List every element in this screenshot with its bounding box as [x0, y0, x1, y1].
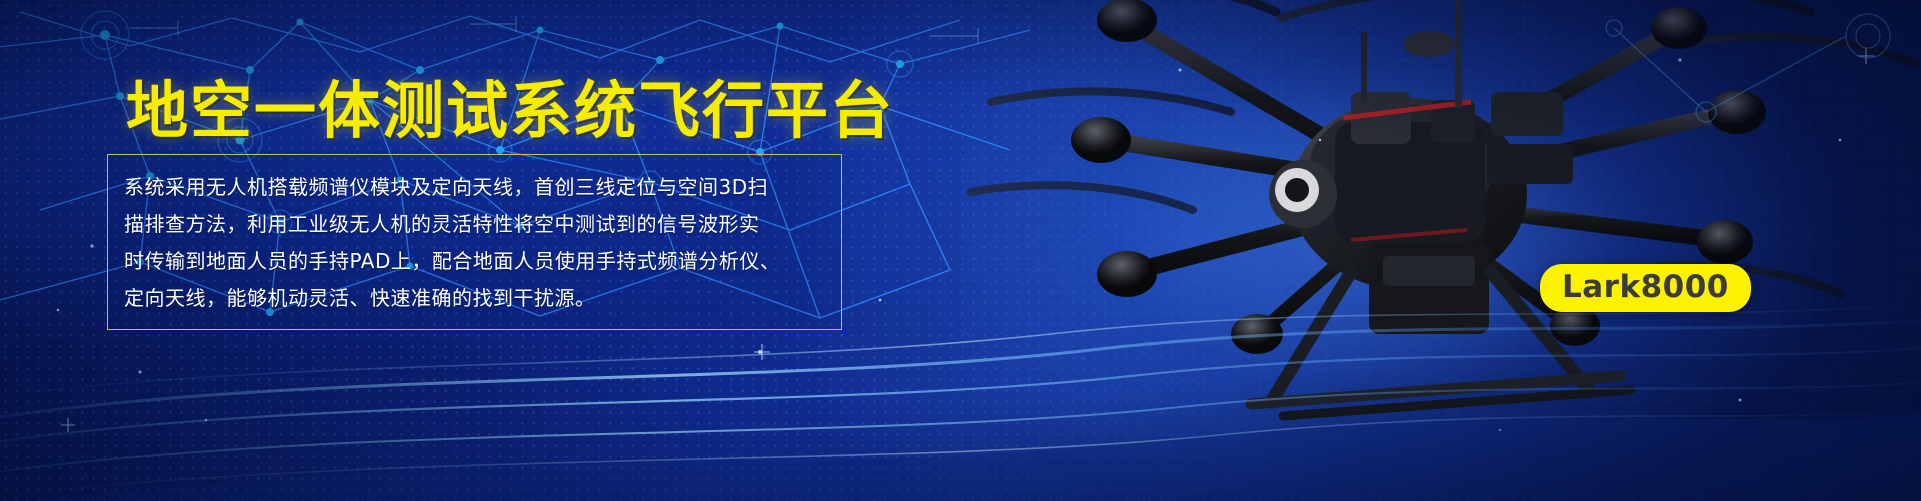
banner-content: 地空一体测试系统飞行平台 系统采用无人机搭载频谱仪模块及定向天线，首创三线定位与… [0, 0, 1921, 501]
description-box: 系统采用无人机搭载频谱仪模块及定向天线，首创三线定位与空间3D扫 描排查方法，利… [107, 154, 842, 330]
description-line-1: 系统采用无人机搭载频谱仪模块及定向天线，首创三线定位与空间3D扫 [124, 169, 825, 206]
model-name-badge: Lark8000 [1540, 264, 1751, 312]
product-banner: 地空一体测试系统飞行平台 系统采用无人机搭载频谱仪模块及定向天线，首创三线定位与… [0, 0, 1921, 501]
description-line-4: 定向天线，能够机动灵活、快速准确的找到干扰源。 [124, 280, 825, 317]
description-line-2: 描排查方法，利用工业级无人机的灵活特性将空中测试到的信号波形实 [124, 206, 825, 243]
banner-title: 地空一体测试系统飞行平台 [126, 78, 894, 144]
description-line-3: 时传输到地面人员的手持PAD上，配合地面人员使用手持式频谱分析仪、 [124, 243, 825, 280]
